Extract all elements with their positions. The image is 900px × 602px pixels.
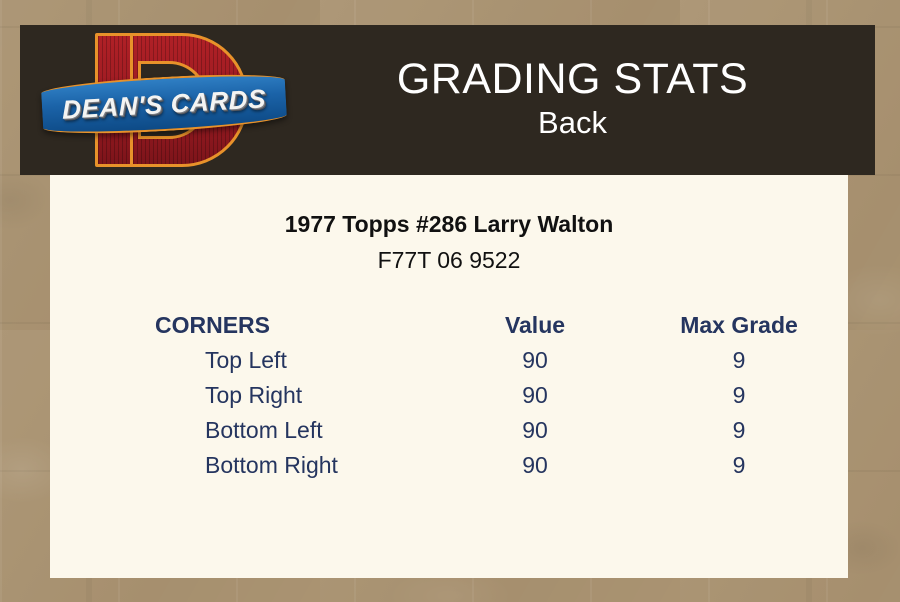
row-value: 90 bbox=[440, 378, 630, 413]
table-row: Top Left 90 9 bbox=[50, 343, 848, 378]
table-row: Top Right 90 9 bbox=[50, 378, 848, 413]
stats-table-body: Top Left 90 9 Top Right 90 9 Bottom Left… bbox=[50, 343, 848, 483]
stats-table-head: CORNERS Value Max Grade bbox=[50, 308, 848, 343]
content-panel: 1977 Topps #286 Larry Walton F77T 06 952… bbox=[50, 175, 848, 578]
row-max-grade: 9 bbox=[630, 343, 848, 378]
table-row: Bottom Left 90 9 bbox=[50, 413, 848, 448]
row-max-grade: 9 bbox=[630, 378, 848, 413]
row-value: 90 bbox=[440, 413, 630, 448]
row-label: Bottom Right bbox=[50, 448, 440, 483]
row-value: 90 bbox=[440, 343, 630, 378]
row-label: Top Right bbox=[50, 378, 440, 413]
page-title: GRADING STATS bbox=[290, 57, 855, 102]
header-titles: GRADING STATS Back bbox=[290, 57, 875, 144]
row-max-grade: 9 bbox=[630, 448, 848, 483]
row-label: Bottom Left bbox=[50, 413, 440, 448]
row-label: Top Left bbox=[50, 343, 440, 378]
row-value: 90 bbox=[440, 448, 630, 483]
grading-stats-table: CORNERS Value Max Grade Top Left 90 9 To… bbox=[50, 308, 848, 483]
logo-ribbon-banner: DEAN'S CARDS bbox=[41, 70, 288, 138]
table-row: Bottom Right 90 9 bbox=[50, 448, 848, 483]
card-title: 1977 Topps #286 Larry Walton bbox=[50, 211, 848, 238]
column-header-max-grade: Max Grade bbox=[630, 308, 848, 343]
card-serial-number: F77T 06 9522 bbox=[50, 247, 848, 274]
column-header-value: Value bbox=[440, 308, 630, 343]
page-subtitle: Back bbox=[290, 102, 855, 144]
deans-cards-logo[interactable]: DEAN'S CARDS bbox=[20, 25, 290, 175]
header-bar: DEAN'S CARDS GRADING STATS Back bbox=[20, 25, 875, 175]
stats-section-header: CORNERS bbox=[50, 308, 440, 343]
row-max-grade: 9 bbox=[630, 413, 848, 448]
stats-table-header-row: CORNERS Value Max Grade bbox=[50, 308, 848, 343]
logo-ribbon-text: DEAN'S CARDS bbox=[62, 83, 266, 125]
